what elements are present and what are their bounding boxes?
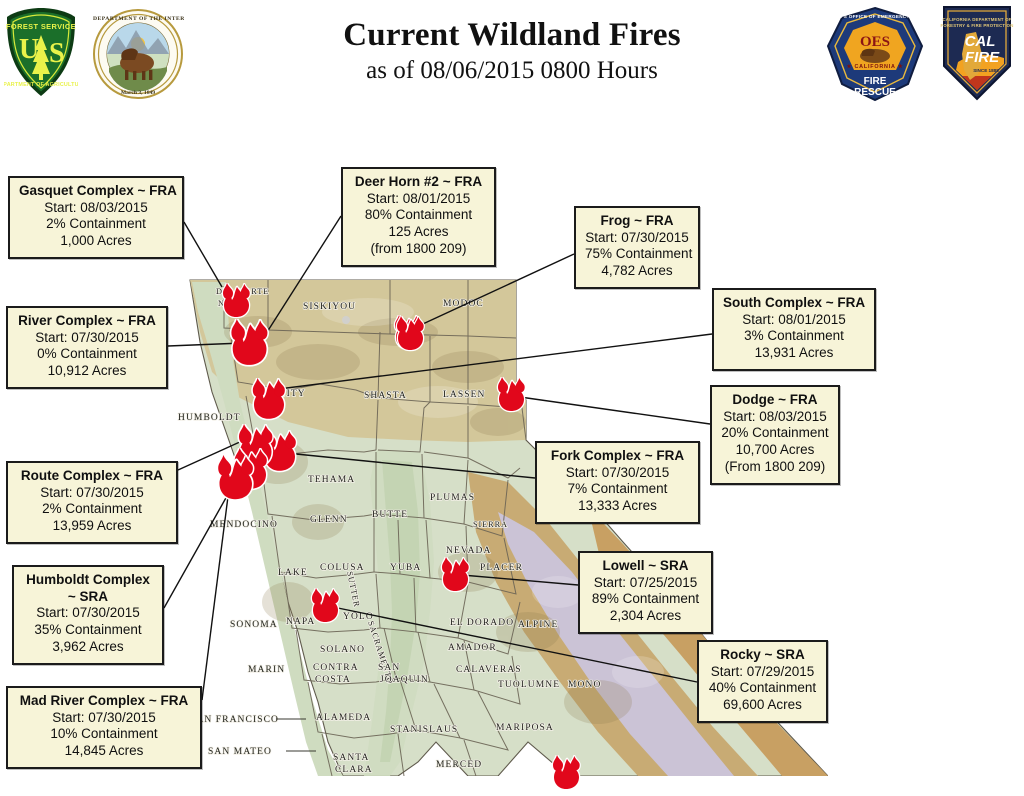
- svg-text:FOREST SERVICE: FOREST SERVICE: [6, 22, 76, 31]
- svg-text:U.S. DEPARTMENT OF THE INTERIO: U.S. DEPARTMENT OF THE INTERIOR: [92, 16, 184, 22]
- fire-start-date: Start: 07/30/2015: [23, 605, 153, 622]
- fire-callout[interactable]: Fork Complex ~ FRAStart: 07/30/20157% Co…: [535, 441, 700, 524]
- fire-acres: 13,959 Acres: [17, 518, 167, 535]
- county-label: ALPINE: [518, 620, 558, 630]
- fire-icon: [213, 455, 257, 502]
- svg-text:March 3, 1849: March 3, 1849: [121, 90, 155, 96]
- svg-text:S: S: [49, 38, 65, 69]
- county-label: SONOMA: [230, 620, 278, 630]
- fire-start-date: Start: 07/25/2015: [589, 575, 702, 592]
- county-label: SANTA: [333, 753, 369, 763]
- page-title: Current Wildland Fires: [252, 18, 772, 53]
- fire-acres: 10,912 Acres: [17, 363, 157, 380]
- fire-name: Fork Complex ~ FRA: [546, 448, 689, 465]
- fire-callout[interactable]: Deer Horn #2 ~ FRAStart: 08/01/201580% C…: [341, 167, 496, 267]
- county-label: SAN FRANCISCO: [190, 715, 279, 725]
- fire-containment: 3% Containment: [723, 328, 865, 345]
- county-label: MARIN: [248, 665, 285, 675]
- doi-logo: U.S. DEPARTMENT OF THE INTERIOR March 3,…: [92, 8, 184, 100]
- county-label: PLUMAS: [430, 493, 475, 503]
- fire-icon: [549, 755, 583, 791]
- fire-name: South Complex ~ FRA: [723, 295, 865, 312]
- fire-callout[interactable]: Mad River Complex ~ FRAStart: 07/30/2015…: [6, 686, 202, 769]
- fire-icon: [438, 557, 472, 593]
- fire-name: Dodge ~ FRA: [721, 392, 829, 409]
- county-label: LASSEN: [443, 390, 486, 400]
- fire-containment: 89% Containment: [589, 591, 702, 608]
- county-label: AMADOR: [448, 643, 497, 653]
- fire-note: (from 1800 209): [352, 241, 485, 258]
- svg-text:GOVERNOR'S OFFICE OF EMERGENCY: GOVERNOR'S OFFICE OF EMERGENCY SERVICES: [822, 14, 928, 19]
- county-label: TUOLUMNE: [498, 680, 560, 690]
- fire-acres: 14,845 Acres: [17, 743, 191, 760]
- county-label: MODOC: [443, 299, 484, 309]
- cal-oes-logo: OES ★ CALIFORNIA ★ GOVERNOR'S OFFICE OF …: [822, 6, 928, 102]
- county-label: HUMBOLDT: [178, 413, 241, 423]
- county-label: JOAQUIN: [380, 675, 429, 685]
- fire-callout[interactable]: Lowell ~ SRAStart: 07/25/201589% Contain…: [578, 551, 713, 634]
- fire-name: Route Complex ~ FRA: [17, 468, 167, 485]
- county-label: CONTRA: [313, 663, 359, 673]
- fire-start-date: Start: 08/03/2015: [19, 200, 173, 217]
- county-label: MARIPOSA: [496, 723, 554, 733]
- fire-containment: 80% Containment: [352, 207, 485, 224]
- county-label: SAN MATEO: [208, 747, 272, 757]
- county-label: SOLANO: [320, 645, 365, 655]
- fire-icon: [393, 316, 427, 352]
- fire-start-date: Start: 07/30/2015: [17, 710, 191, 727]
- fire-containment: 10% Containment: [17, 726, 191, 743]
- county-label: SIERRA: [473, 520, 508, 529]
- county-label: SAN: [378, 663, 400, 673]
- fire-containment: 7% Containment: [546, 481, 689, 498]
- svg-text:CAL: CAL: [965, 33, 996, 50]
- fire-callout[interactable]: Rocky ~ SRAStart: 07/29/201540% Containm…: [697, 640, 828, 723]
- page-header: FOREST SERVICE U S DEPARTMENT OF AGRICUL…: [0, 0, 1024, 115]
- fire-acres: 69,600 Acres: [708, 697, 817, 714]
- fire-acres: 2,304 Acres: [589, 608, 702, 625]
- county-label: PLACER: [480, 563, 523, 573]
- fire-containment: 0% Containment: [17, 346, 157, 363]
- fire-acres: 1,000 Acres: [19, 233, 173, 250]
- fire-name: Gasquet Complex ~ FRA: [19, 183, 173, 200]
- svg-text:FORESTRY & FIRE PROTECTION: FORESTRY & FIRE PROTECTION: [941, 23, 1014, 28]
- fire-callout[interactable]: South Complex ~ FRAStart: 08/01/20153% C…: [712, 288, 876, 371]
- fire-icon: [226, 319, 272, 368]
- fire-start-date: Start: 08/03/2015: [721, 409, 829, 426]
- svg-text:OES: OES: [860, 34, 890, 50]
- fire-start-date: Start: 07/30/2015: [546, 465, 689, 482]
- fire-name: Rocky ~ SRA: [708, 647, 817, 664]
- fire-start-date: Start: 07/29/2015: [708, 664, 817, 681]
- cal-fire-logo: CALIFORNIA DEPARTMENT OF FORESTRY & FIRE…: [936, 4, 1018, 102]
- county-label: CALAVERAS: [456, 665, 522, 675]
- fire-acres: 3,962 Acres: [23, 639, 153, 656]
- fire-acres: 125 Acres: [352, 224, 485, 241]
- fire-acres: 10,700 Acres: [721, 442, 829, 459]
- county-label: MENDOCINO: [210, 520, 278, 530]
- fire-callout[interactable]: Dodge ~ FRAStart: 08/03/201520% Containm…: [710, 385, 840, 485]
- fire-name-line2: ~ SRA: [23, 589, 153, 606]
- fire-start-date: Start: 07/30/2015: [17, 485, 167, 502]
- fire-start-date: Start: 08/01/2015: [723, 312, 865, 329]
- fire-containment: 35% Containment: [23, 622, 153, 639]
- fire-acres: 13,931 Acres: [723, 345, 865, 362]
- fire-icon: [219, 283, 253, 319]
- county-label: COLUSA: [320, 563, 365, 573]
- fire-icon: [308, 588, 342, 624]
- county-label: BUTTE: [372, 510, 408, 520]
- fire-name: Deer Horn #2 ~ FRA: [352, 174, 485, 191]
- svg-text:FIRE: FIRE: [965, 49, 1000, 66]
- fire-callout[interactable]: Frog ~ FRAStart: 07/30/201575% Containme…: [574, 206, 700, 289]
- county-label: STANISLAUS: [390, 725, 458, 735]
- fire-start-date: Start: 08/01/2015: [352, 191, 485, 208]
- fire-icon: [248, 378, 289, 421]
- fire-name: Humboldt Complex: [23, 572, 153, 589]
- svg-text:CALIFORNIA DEPARTMENT OF: CALIFORNIA DEPARTMENT OF: [942, 17, 1011, 22]
- county-label: EL DORADO: [450, 618, 514, 628]
- svg-text:RESCUE: RESCUE: [854, 87, 896, 98]
- county-label: MONO: [568, 680, 601, 690]
- fire-callout[interactable]: River Complex ~ FRAStart: 07/30/20150% C…: [6, 306, 168, 389]
- county-label: COSTA: [315, 675, 351, 685]
- county-label: TEHAMA: [308, 475, 355, 485]
- county-label: GLENN: [310, 515, 348, 525]
- county-label: MERCED: [436, 760, 482, 770]
- fire-start-date: Start: 07/30/2015: [585, 230, 689, 247]
- fire-note: (From 1800 209): [721, 459, 829, 476]
- wildfire-map-page: FOREST SERVICE U S DEPARTMENT OF AGRICUL…: [0, 0, 1024, 776]
- county-label: YUBA: [390, 563, 421, 573]
- fire-name: Frog ~ FRA: [585, 213, 689, 230]
- page-subtitle: as of 08/06/2015 0800 Hours: [252, 57, 772, 85]
- county-label: LAKE: [278, 568, 308, 578]
- fire-containment: 40% Containment: [708, 680, 817, 697]
- fire-containment: 75% Containment: [585, 246, 689, 263]
- fire-name: Lowell ~ SRA: [589, 558, 702, 575]
- county-label: CLARA: [335, 765, 373, 775]
- fire-containment: 2% Containment: [17, 501, 167, 518]
- svg-text:DEPARTMENT OF AGRICULTURE: DEPARTMENT OF AGRICULTURE: [4, 82, 78, 88]
- fire-containment: 2% Containment: [19, 216, 173, 233]
- usfs-logo: FOREST SERVICE U S DEPARTMENT OF AGRICUL…: [4, 6, 78, 98]
- county-label: SISKIYOU: [303, 302, 356, 312]
- svg-text:SINCE 1885: SINCE 1885: [973, 68, 999, 73]
- county-label: YOLO: [343, 612, 374, 622]
- fire-name: River Complex ~ FRA: [17, 313, 157, 330]
- fire-callout[interactable]: Route Complex ~ FRAStart: 07/30/20152% C…: [6, 461, 178, 544]
- fire-callout[interactable]: Gasquet Complex ~ FRAStart: 08/03/20152%…: [8, 176, 184, 259]
- fire-callout[interactable]: Humboldt Complex~ SRAStart: 07/30/201535…: [12, 565, 164, 665]
- svg-text:FIRE: FIRE: [864, 76, 887, 87]
- fire-icon: [494, 377, 528, 413]
- county-label: ALAMEDA: [316, 713, 371, 723]
- fire-acres: 4,782 Acres: [585, 263, 689, 280]
- fire-start-date: Start: 07/30/2015: [17, 330, 157, 347]
- fire-acres: 13,333 Acres: [546, 498, 689, 515]
- fire-name: Mad River Complex ~ FRA: [17, 693, 191, 710]
- svg-text:★ CALIFORNIA ★: ★ CALIFORNIA ★: [846, 64, 904, 70]
- county-label: SHASTA: [364, 391, 407, 401]
- county-label: NEVADA: [446, 546, 491, 556]
- title-block: Current Wildland Fires as of 08/06/2015 …: [252, 18, 772, 84]
- fire-containment: 20% Containment: [721, 425, 829, 442]
